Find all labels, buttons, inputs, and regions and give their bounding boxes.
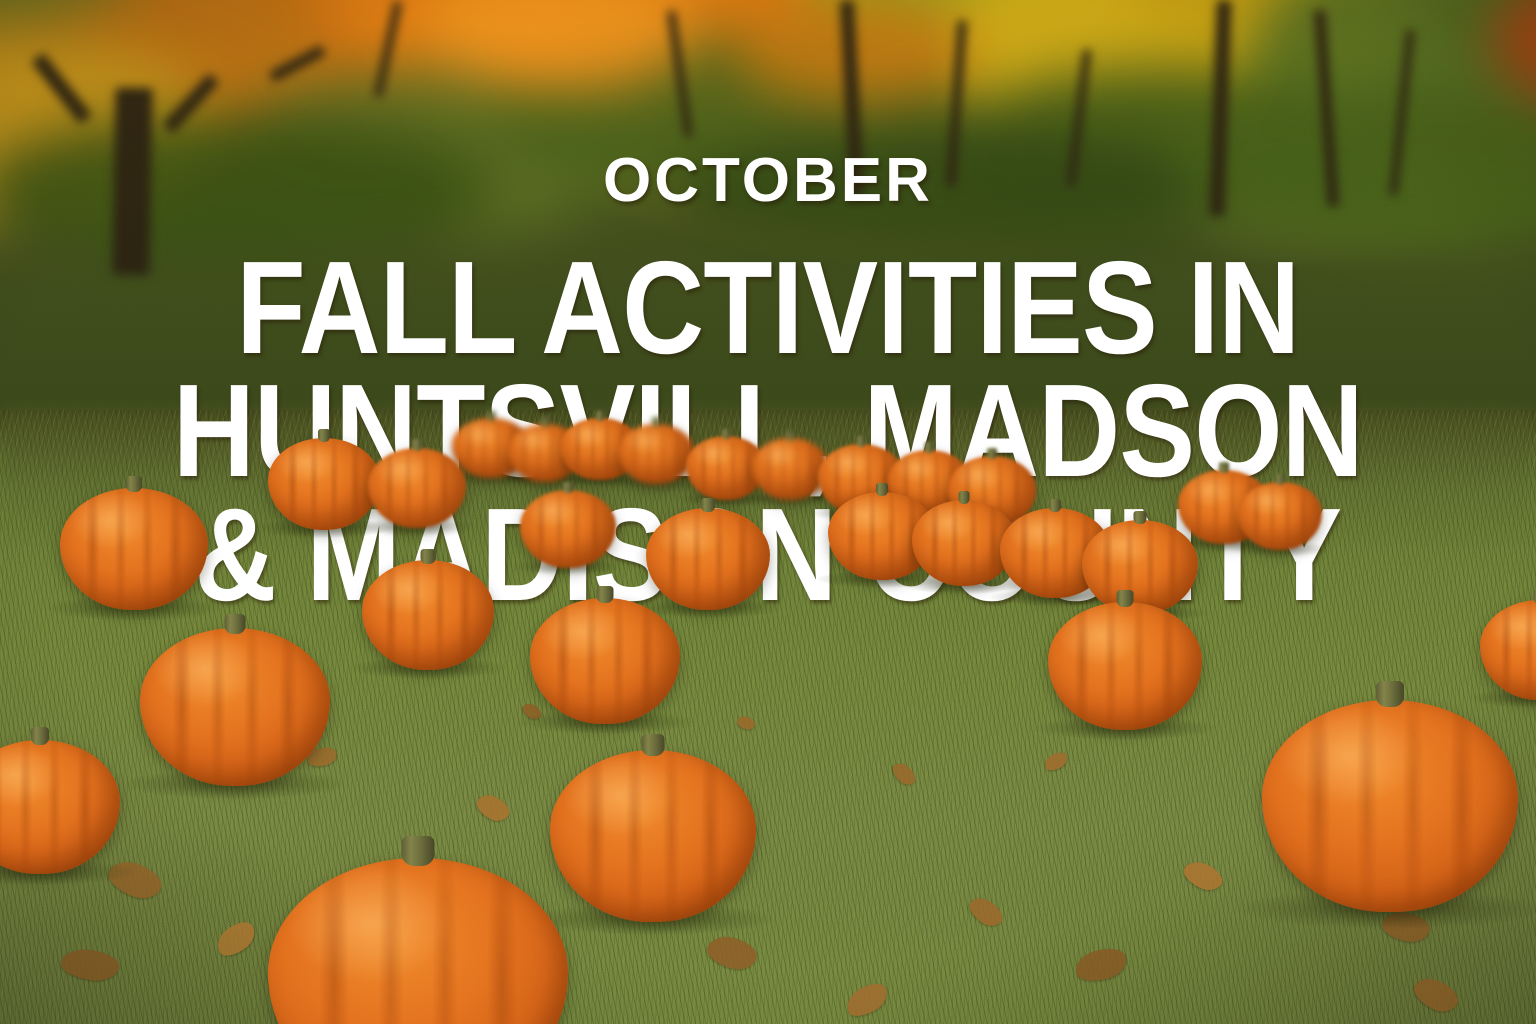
pumpkin-ribs (1048, 602, 1202, 730)
pumpkin (268, 858, 568, 1024)
pumpkin (1082, 520, 1198, 614)
pumpkin-stem (642, 734, 665, 756)
pumpkin (618, 424, 694, 484)
pumpkin-ribs (550, 750, 756, 922)
pumpkin-ribs (1480, 600, 1536, 700)
pumpkin-ribs (1262, 700, 1518, 912)
pumpkin-stem (857, 436, 866, 447)
pumpkin-ribs (362, 560, 494, 670)
pumpkin (0, 740, 120, 874)
pumpkin (1262, 700, 1518, 912)
pumpkin-stem (1376, 681, 1404, 707)
pumpkin-ribs (520, 490, 616, 568)
pumpkin-ribs (268, 858, 568, 1024)
pumpkin-stem (318, 429, 330, 442)
pumpkin-ribs (368, 448, 466, 528)
pumpkin-ribs (268, 438, 380, 530)
pumpkin-stem (876, 483, 888, 496)
pumpkin-stem (596, 411, 605, 421)
page-title-line-1: FALL ACTIVITIES IN (173, 246, 1363, 369)
pumpkin-ribs (0, 740, 120, 874)
pumpkin-stem (126, 476, 142, 492)
pumpkin-ribs (646, 508, 770, 610)
pumpkin (752, 438, 828, 500)
pumpkin (520, 490, 616, 568)
pumpkin-stem (701, 498, 715, 512)
pumpkin-stem (1134, 511, 1147, 524)
pumpkin-stem (541, 417, 549, 427)
pumpkin-stem (487, 411, 496, 421)
pumpkin-ribs (752, 438, 828, 500)
pumpkin-stem (1276, 474, 1285, 485)
pumpkin (646, 508, 770, 610)
pumpkin-ribs (530, 598, 680, 724)
pumpkin (1480, 600, 1536, 700)
pumpkin-ribs (140, 628, 330, 786)
pumpkin (530, 598, 680, 724)
pumpkin (1238, 482, 1322, 550)
pumpkin (550, 750, 756, 922)
pumpkin-stem (402, 836, 435, 866)
pumpkin (268, 438, 380, 530)
kicker-month: OCTOBER (603, 150, 933, 212)
pumpkin-stem (597, 586, 614, 603)
pumpkin-stem (652, 417, 660, 427)
pumpkin-ribs (618, 424, 694, 484)
pumpkin-stem (412, 439, 423, 451)
pumpkin-stem (722, 429, 731, 439)
pumpkin-stem (563, 482, 574, 493)
pumpkin-stem (786, 431, 794, 441)
pumpkin-stem (925, 442, 934, 453)
pumpkin-ribs (60, 488, 208, 610)
pumpkin (60, 488, 208, 610)
pumpkin-ribs (1238, 482, 1322, 550)
pumpkin (140, 628, 330, 786)
pumpkin-stem (1049, 499, 1061, 512)
pumpkin (362, 560, 494, 670)
pumpkin-stem (225, 614, 246, 634)
pumpkin-ribs (1082, 520, 1198, 614)
pumpkin-stem (421, 549, 436, 564)
pumpkin (1048, 602, 1202, 730)
pumpkin (368, 448, 466, 528)
pumpkin-stem (1117, 590, 1134, 607)
pumpkin-stem (959, 491, 970, 504)
fall-activities-banner: OCTOBER FALL ACTIVITIES INHUNTSVILL, MAD… (0, 0, 1536, 1024)
pumpkin-stem (31, 727, 49, 745)
pumpkin-stem (1219, 462, 1229, 473)
pumpkin-stem (987, 448, 997, 459)
